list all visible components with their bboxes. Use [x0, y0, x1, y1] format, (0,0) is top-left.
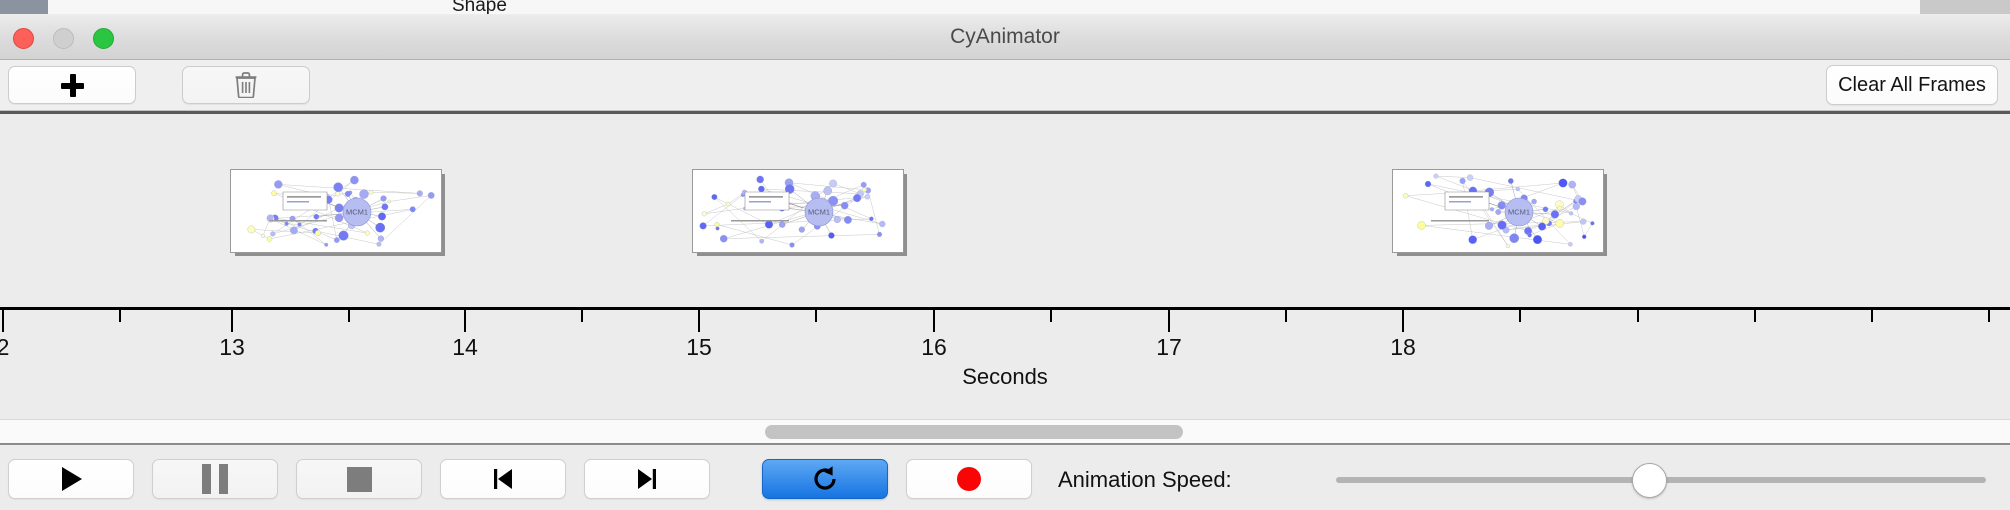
axis-tick	[2, 310, 4, 332]
axis-tick	[1871, 310, 1873, 322]
axis-tick	[933, 310, 935, 332]
axis-tick-label: 13	[219, 334, 245, 361]
axis-tick	[1050, 310, 1052, 322]
axis-tick-label: 16	[921, 334, 947, 361]
add-frame-button[interactable]	[8, 66, 136, 104]
plus-icon	[61, 74, 84, 97]
stop-icon	[347, 467, 372, 492]
play-icon	[56, 464, 86, 494]
play-button[interactable]	[8, 459, 134, 499]
record-button[interactable]	[906, 459, 1032, 499]
horizontal-scrollbar[interactable]	[0, 419, 2010, 445]
frame-thumbnail-1[interactable]: MCM1	[230, 169, 445, 254]
axis-tick	[1754, 310, 1756, 322]
timeline-axis	[0, 307, 2010, 310]
axis-tick	[1168, 310, 1170, 332]
record-icon	[957, 467, 981, 491]
axis-tick	[1988, 310, 1990, 322]
cyanimator-window: Shape CyAnimator Clear All Frames MCM1MC…	[0, 0, 2010, 510]
pause-button[interactable]	[152, 459, 278, 499]
next-frame-button[interactable]	[584, 459, 710, 499]
window-title: CyAnimator	[0, 14, 2010, 59]
axis-tick	[1519, 310, 1521, 322]
axis-tick	[1285, 310, 1287, 322]
axis-tick	[231, 310, 233, 332]
axis-tick	[1637, 310, 1639, 322]
clear-all-frames-label: Clear All Frames	[1838, 74, 1986, 97]
animation-speed-slider[interactable]	[1336, 477, 1986, 483]
toolbar: Clear All Frames	[0, 60, 2010, 111]
frame-thumbnail-3[interactable]: MCM1	[1392, 169, 1607, 254]
slider-thumb[interactable]	[1632, 463, 1667, 498]
axis-tick-label: 17	[1156, 334, 1182, 361]
playback-control-bar: Animation Speed:	[0, 447, 2010, 510]
thumbnail-canvas: MCM1	[1392, 169, 1604, 253]
stop-button[interactable]	[296, 459, 422, 499]
title-bar: CyAnimator	[0, 14, 2010, 60]
background-shape-label: Shape	[452, 0, 507, 15]
pause-icon	[202, 464, 228, 494]
svg-text:MCM1: MCM1	[808, 208, 830, 217]
svg-text:MCM1: MCM1	[1508, 208, 1530, 217]
thumbnail-canvas: MCM1	[230, 169, 442, 253]
previous-frame-button[interactable]	[440, 459, 566, 499]
delete-frame-button[interactable]	[182, 66, 310, 104]
scrollbar-thumb[interactable]	[765, 425, 1183, 439]
axis-tick	[1402, 310, 1404, 332]
axis-tick	[119, 310, 121, 322]
loop-button[interactable]	[762, 459, 888, 499]
skip-previous-icon	[489, 465, 517, 493]
clear-all-frames-button[interactable]: Clear All Frames	[1826, 65, 1998, 105]
axis-tick-label: 2	[0, 334, 9, 361]
axis-tick	[348, 310, 350, 322]
svg-text:MCM1: MCM1	[346, 208, 368, 217]
thumbnail-canvas: MCM1	[692, 169, 904, 253]
trash-icon	[235, 72, 257, 98]
loop-icon	[810, 464, 840, 494]
axis-tick	[698, 310, 700, 332]
axis-tick	[581, 310, 583, 322]
frame-thumbnail-2[interactable]: MCM1	[692, 169, 907, 254]
skip-next-icon	[633, 465, 661, 493]
axis-tick-label: 18	[1390, 334, 1416, 361]
axis-tick-label: 15	[686, 334, 712, 361]
axis-caption: Seconds	[0, 364, 2010, 390]
axis-tick	[815, 310, 817, 322]
axis-tick	[464, 310, 466, 332]
background-window-strip: Shape	[0, 0, 2010, 15]
animation-speed-label: Animation Speed:	[1058, 467, 1232, 493]
axis-tick-label: 14	[452, 334, 478, 361]
timeline-panel[interactable]: MCM1MCM1MCM1 2131415161718 Seconds	[0, 111, 2010, 419]
